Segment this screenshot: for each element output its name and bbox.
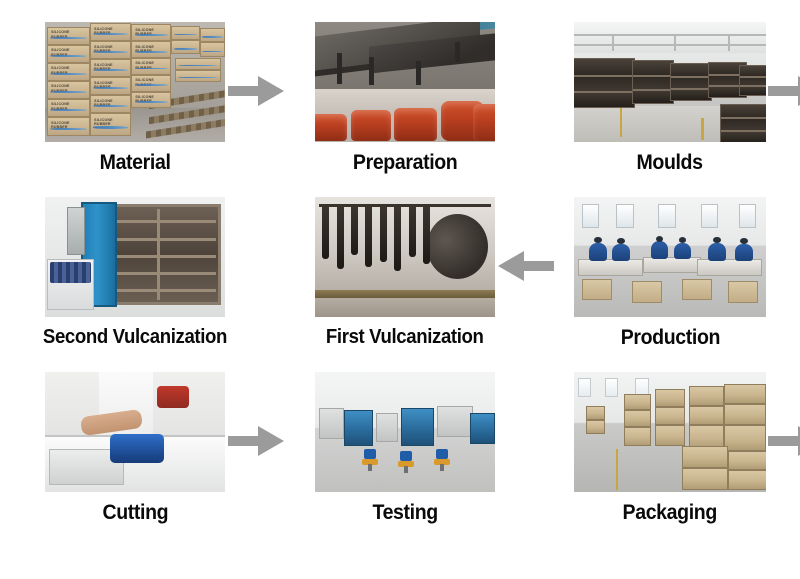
photo-first-vulcanization (315, 197, 495, 317)
photo-testing (315, 372, 495, 492)
process-step-preparation[interactable]: Preparation (270, 22, 540, 197)
process-step-first-vulcanization[interactable]: First Vulcanization (270, 197, 540, 372)
process-step-testing[interactable]: Testing (270, 372, 540, 547)
photo-moulds (574, 22, 766, 142)
photo-second-vulcanization (45, 197, 225, 317)
step-label-first-vulcanization: First Vulcanization (326, 326, 484, 349)
photo-production (574, 197, 766, 317)
step-label-packaging: Packaging (623, 501, 717, 525)
step-label-moulds: Moulds (637, 151, 703, 175)
process-step-production[interactable]: Production (540, 197, 800, 372)
process-step-moulds[interactable]: Moulds (540, 22, 800, 197)
photo-preparation (315, 22, 495, 142)
step-label-cutting: Cutting (102, 501, 168, 525)
step-label-second-vulcanization: Second Vulcanization (43, 326, 227, 349)
step-label-production: Production (620, 326, 719, 350)
step-label-preparation: Preparation (353, 151, 457, 175)
photo-material: SILICONERUBBER SILICONERUBBER SILICONERU… (45, 22, 225, 142)
step-label-material: Material (100, 151, 171, 175)
process-step-second-vulcanization[interactable]: Second Vulcanization (0, 197, 270, 372)
process-step-material[interactable]: SILICONERUBBER SILICONERUBBER SILICONERU… (0, 22, 270, 197)
process-step-packaging[interactable]: Packaging (540, 372, 800, 547)
process-flow-diagram: SILICONERUBBER SILICONERUBBER SILICONERU… (0, 0, 800, 579)
step-label-testing: Testing (372, 501, 437, 525)
photo-cutting (45, 372, 225, 492)
photo-packaging (574, 372, 766, 492)
process-step-cutting[interactable]: Cutting (0, 372, 270, 547)
